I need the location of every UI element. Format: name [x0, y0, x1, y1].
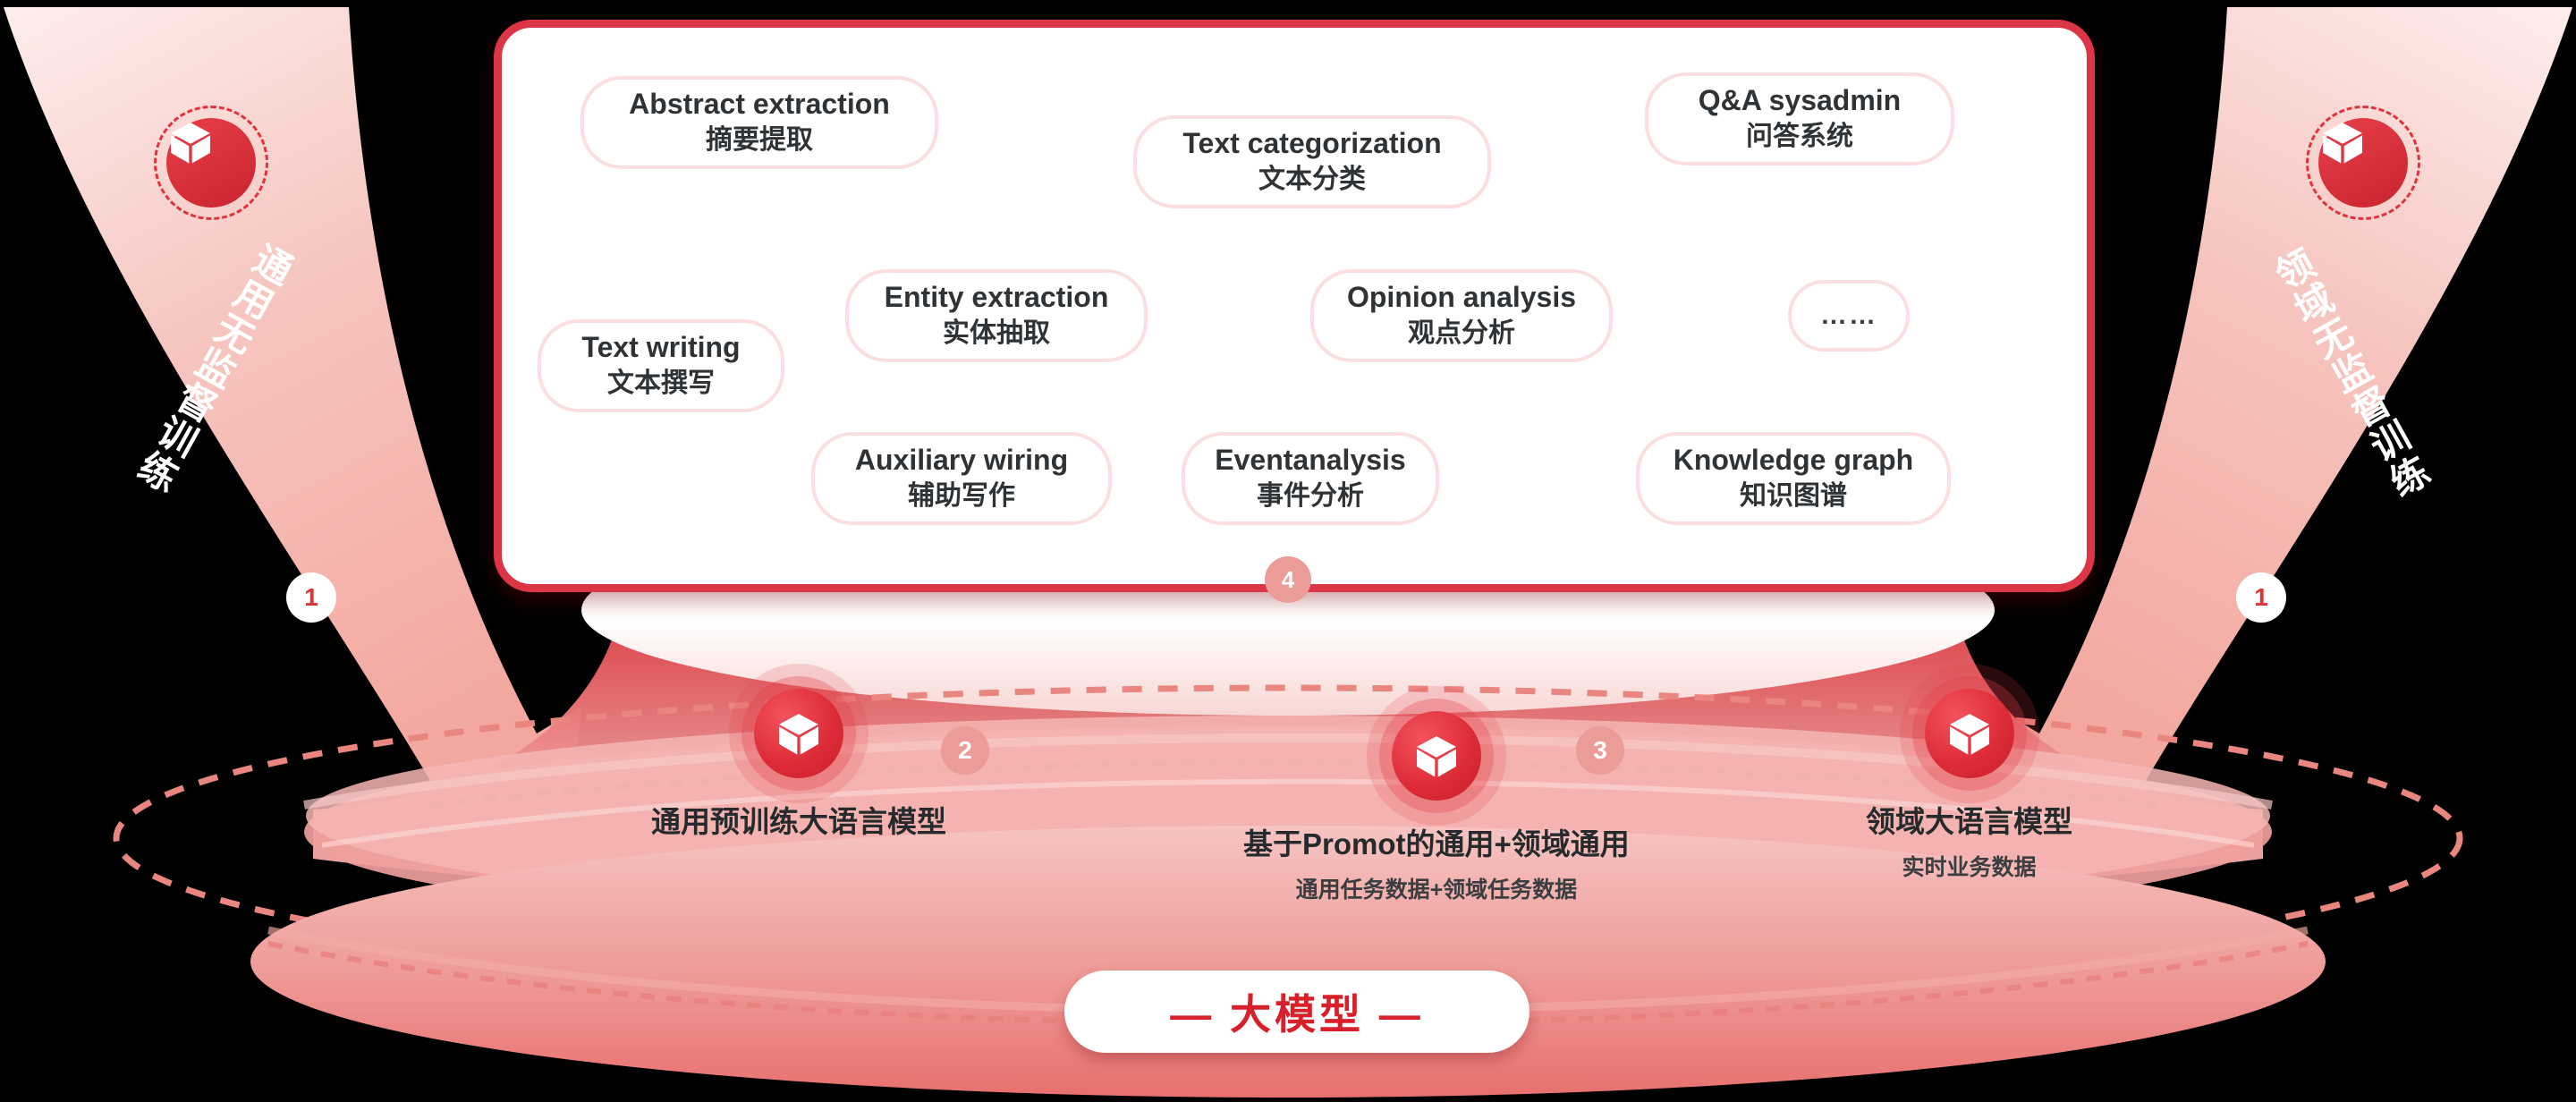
- capability-pill-eventanalysis[interactable]: Eventanalysis 事件分析: [1182, 432, 1439, 525]
- pill-zh: 文本分类: [1258, 164, 1366, 196]
- pill-zh: 知识图谱: [1740, 480, 1847, 513]
- node-subtitle: 通用任务数据+领域任务数据: [1296, 872, 1578, 904]
- pill-zh: 实体抽取: [943, 318, 1050, 350]
- node-subtitle: 实时业务数据: [1902, 850, 2036, 882]
- cube-icon: [754, 689, 843, 778]
- cube-icon: [2318, 118, 2408, 208]
- pill-en: Entity extraction: [885, 282, 1109, 314]
- pill-en: Opinion analysis: [1347, 282, 1576, 314]
- cube-icon: [1392, 711, 1481, 801]
- node-title: 通用预训练大语言模型: [651, 798, 946, 841]
- pill-en: Q&A sysadmin: [1699, 85, 1901, 117]
- step-badge-3: 3: [1576, 726, 1624, 775]
- pipeline-node-1[interactable]: 通用预训练大语言模型: [651, 689, 946, 850]
- capability-pill-abstract-extraction[interactable]: Abstract extraction 摘要提取: [580, 76, 938, 169]
- capability-pill-qa-sysadmin[interactable]: Q&A sysadmin 问答系统: [1645, 72, 1954, 165]
- capability-pill-opinion-analysis[interactable]: Opinion analysis 观点分析: [1310, 269, 1613, 362]
- right-arrow-cube-badge: [2306, 106, 2420, 220]
- pipeline-node-2[interactable]: 基于Promot的通用+领域通用 通用任务数据+领域任务数据: [1243, 711, 1630, 904]
- pill-zh: 辅助写作: [908, 480, 1015, 513]
- pill-en: Eventanalysis: [1215, 445, 1405, 477]
- pill-zh: 观点分析: [1408, 318, 1515, 350]
- diagram-canvas: 通用无监督训练 1 领域无监督训练: [0, 0, 2576, 1102]
- step-badge-2: 2: [941, 726, 989, 775]
- pill-en: Knowledge graph: [1674, 445, 1913, 477]
- node-title: 基于Promot的通用+领域通用: [1243, 820, 1630, 863]
- pill-en: Text categorization: [1182, 128, 1441, 160]
- pill-zh: 问答系统: [1746, 121, 1853, 153]
- capability-pill-text-categorization[interactable]: Text categorization 文本分类: [1133, 115, 1491, 208]
- capabilities-card: Abstract extraction 摘要提取 Text categoriza…: [494, 20, 2095, 592]
- pill-en: Auxiliary wiring: [855, 445, 1068, 477]
- left-arrow-cube-badge: [154, 106, 268, 220]
- pipeline-node-3[interactable]: 领域大语言模型 实时业务数据: [1866, 689, 2072, 882]
- card-step-badge-4: 4: [1265, 556, 1311, 603]
- pill-zh: 文本撰写: [607, 368, 715, 400]
- capability-pill-entity-extraction[interactable]: Entity extraction 实体抽取: [845, 269, 1148, 362]
- capability-pill-knowledge-graph[interactable]: Knowledge graph 知识图谱: [1636, 432, 1951, 525]
- pill-en: Text writing: [581, 332, 740, 364]
- cube-icon: [1925, 689, 2014, 778]
- node-title: 领域大语言模型: [1866, 798, 2072, 841]
- capability-pill-auxiliary-wiring[interactable]: Auxiliary wiring 辅助写作: [811, 432, 1112, 525]
- pill-zh: 事件分析: [1257, 480, 1364, 513]
- capability-pill-more[interactable]: ……: [1788, 280, 1910, 352]
- cube-icon: [166, 118, 256, 208]
- pill-en: ……: [1820, 301, 1877, 331]
- capability-pill-text-writing[interactable]: Text writing 文本撰写: [538, 319, 784, 412]
- big-model-pill[interactable]: — 大模型 —: [1064, 971, 1529, 1053]
- pill-en: Abstract extraction: [629, 89, 890, 121]
- pill-zh: 摘要提取: [706, 124, 813, 157]
